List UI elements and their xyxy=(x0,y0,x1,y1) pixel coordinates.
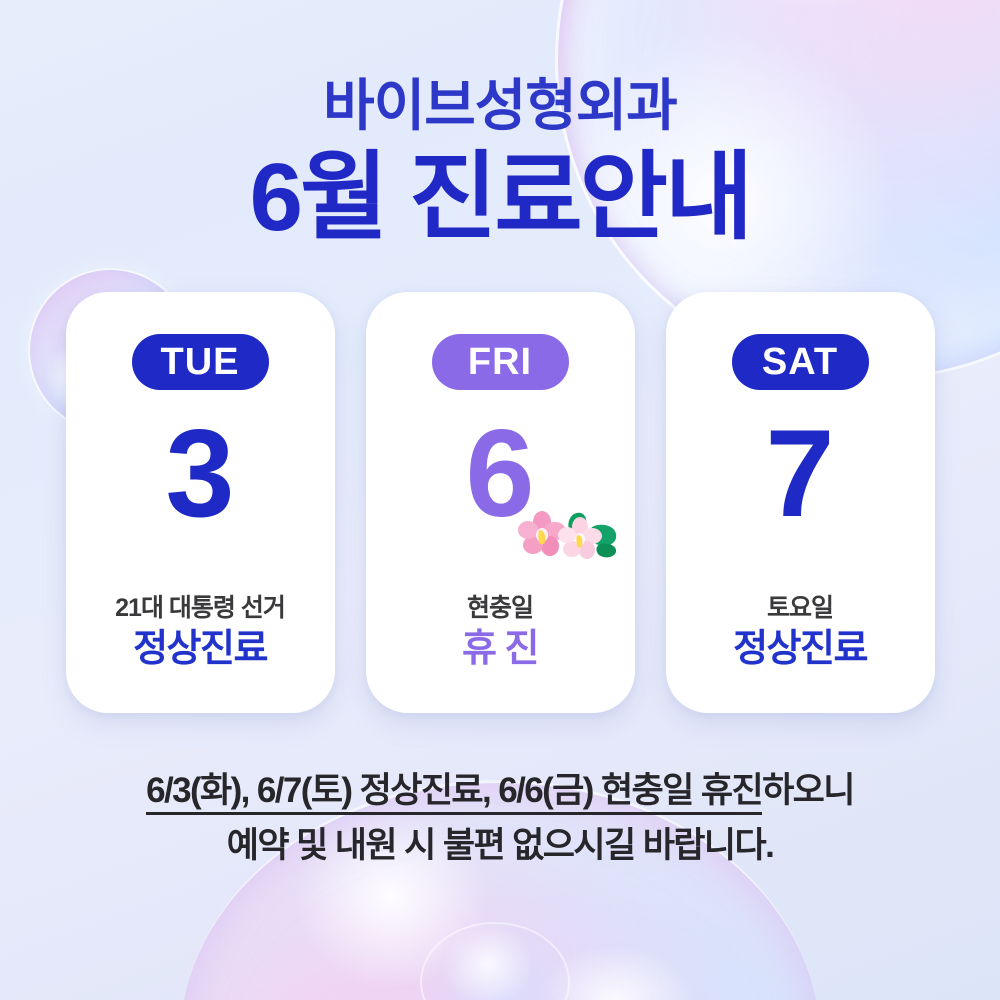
footer-line-1-underlined: 6/3(화), 6/7(토) 정상진료, 6/6(금) 현충일 휴진 xyxy=(146,771,762,815)
note-main-fri: 휴 진 xyxy=(462,627,538,673)
card-note-sat: 토요일 정상진료 xyxy=(733,593,867,713)
note-sub-fri: 현충일 xyxy=(462,593,538,623)
day-badge-sat: SAT xyxy=(732,334,869,390)
schedule-card-sat[interactable]: SAT 7 토요일 정상진료 xyxy=(666,292,935,713)
header: 바이브성형외과 6월 진료안내 xyxy=(0,0,1000,249)
day-badge-tue: TUE xyxy=(132,334,269,390)
card-note-tue: 21대 대통령 선거 정상진료 xyxy=(115,593,285,713)
note-sub-tue: 21대 대통령 선거 xyxy=(115,593,285,623)
day-number-sat: 7 xyxy=(766,412,835,536)
note-main-sat: 정상진료 xyxy=(733,627,867,673)
schedule-card-list: TUE 3 21대 대통령 선거 정상진료 FRI 6 xyxy=(0,292,1000,713)
clinic-name: 바이브성형외과 xyxy=(0,78,1000,134)
day-badge-fri: FRI xyxy=(432,334,569,390)
cherry-blossom-flowers-icon xyxy=(516,492,624,570)
footer-notice: 6/3(화), 6/7(토) 정상진료, 6/6(금) 현충일 휴진하오니 예약… xyxy=(0,768,1000,869)
day-number-tue: 3 xyxy=(166,412,235,536)
bubble-bottom-small-icon xyxy=(420,922,570,1000)
schedule-card-fri[interactable]: FRI 6 xyxy=(366,292,635,713)
page-title: 6월 진료안내 xyxy=(0,148,1000,249)
footer-line-1: 6/3(화), 6/7(토) 정상진료, 6/6(금) 현충일 휴진하오니 xyxy=(0,768,1000,814)
footer-line-1-tail: 하오니 xyxy=(762,771,854,810)
poster-canvas: 바이브성형외과 6월 진료안내 TUE 3 21대 대통령 선거 정상진료 FR… xyxy=(0,0,1000,1000)
footer-line-2: 예약 및 내원 시 불편 없으시길 바랍니다. xyxy=(0,823,1000,869)
card-note-fri: 현충일 휴 진 xyxy=(462,593,538,713)
note-main-tue: 정상진료 xyxy=(115,627,285,673)
schedule-card-tue[interactable]: TUE 3 21대 대통령 선거 정상진료 xyxy=(66,292,335,713)
note-sub-sat: 토요일 xyxy=(733,593,867,623)
